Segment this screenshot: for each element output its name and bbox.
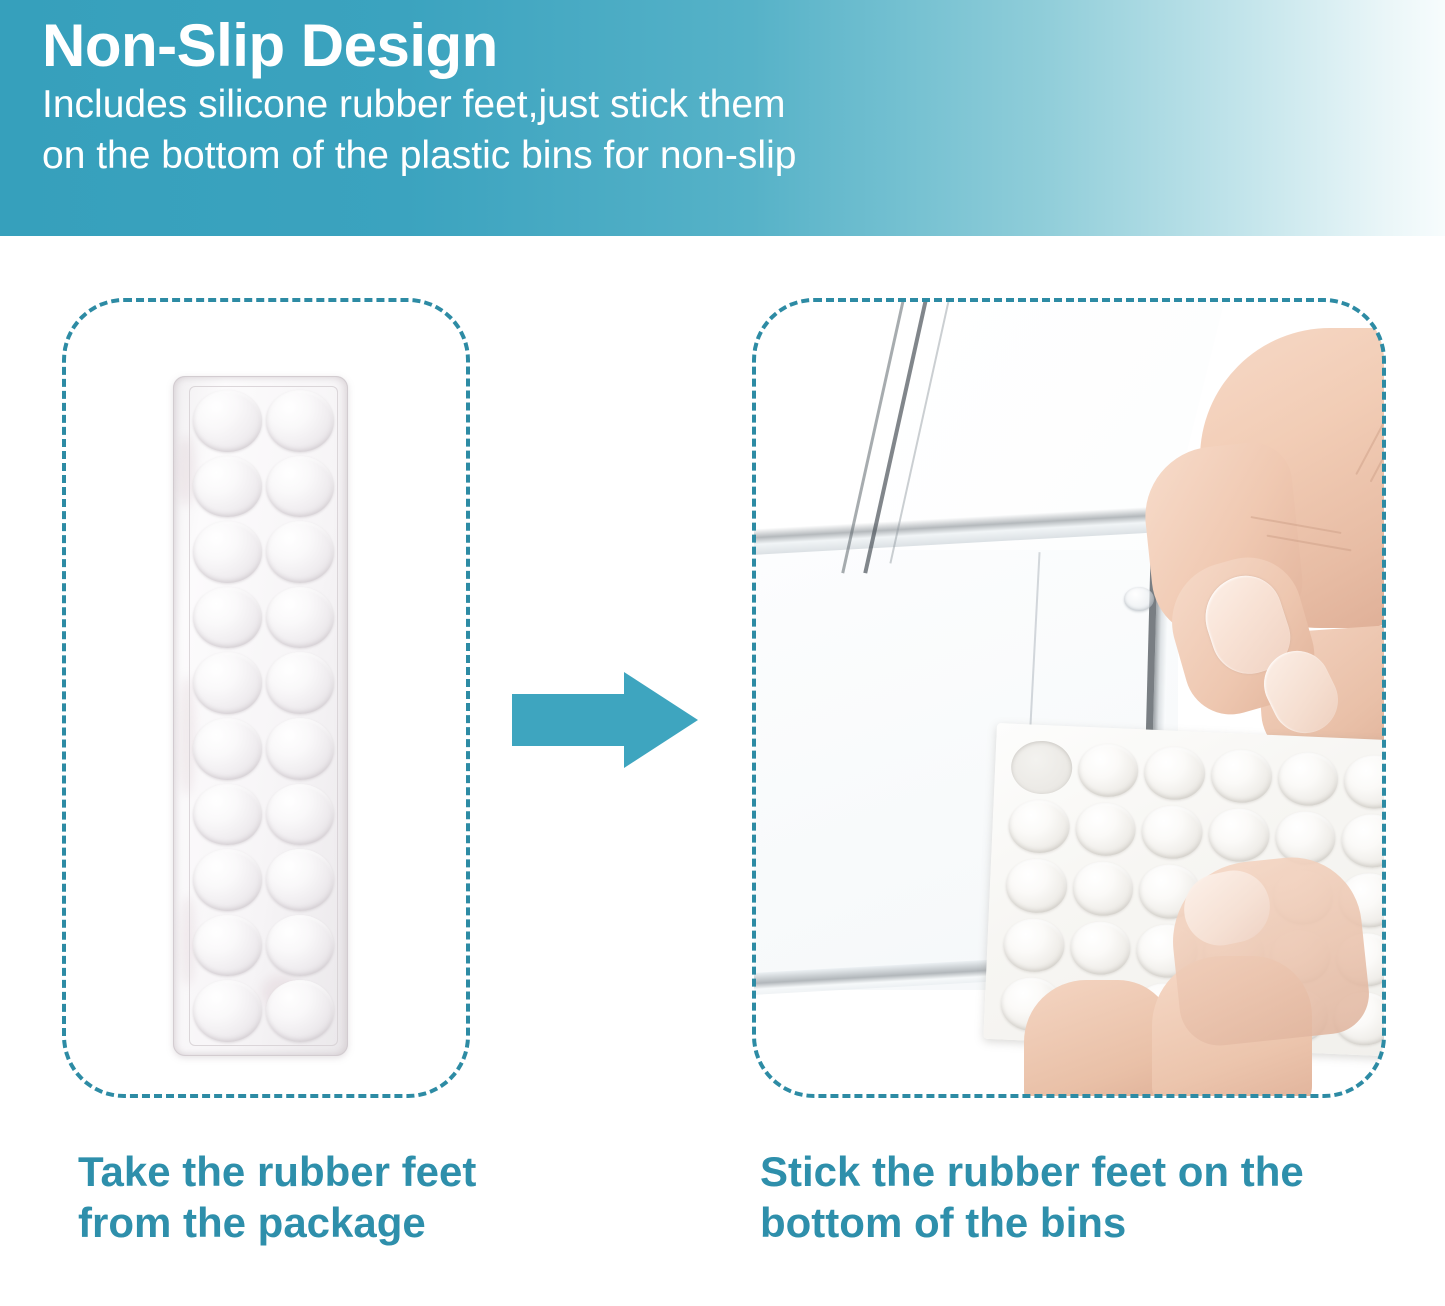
header-text-block: Non-Slip Design Includes silicone rubber… [42, 14, 1445, 180]
right-step-panel [752, 298, 1386, 1098]
header-subtitle-line-2: on the bottom of the plastic bins for no… [42, 132, 1445, 181]
caption-step-one: Take the rubber feet from the package [78, 1146, 508, 1248]
caption-step-two: Stick the rubber feet on the bottom of t… [760, 1146, 1390, 1248]
header-subtitle-line-1: Includes silicone rubber feet,just stick… [42, 81, 1445, 130]
left-step-panel [62, 298, 470, 1098]
step-arrow [512, 672, 698, 768]
header-banner: Non-Slip Design Includes silicone rubber… [0, 0, 1445, 236]
arrow-right-icon [512, 672, 698, 768]
page-title: Non-Slip Design [42, 14, 1445, 79]
